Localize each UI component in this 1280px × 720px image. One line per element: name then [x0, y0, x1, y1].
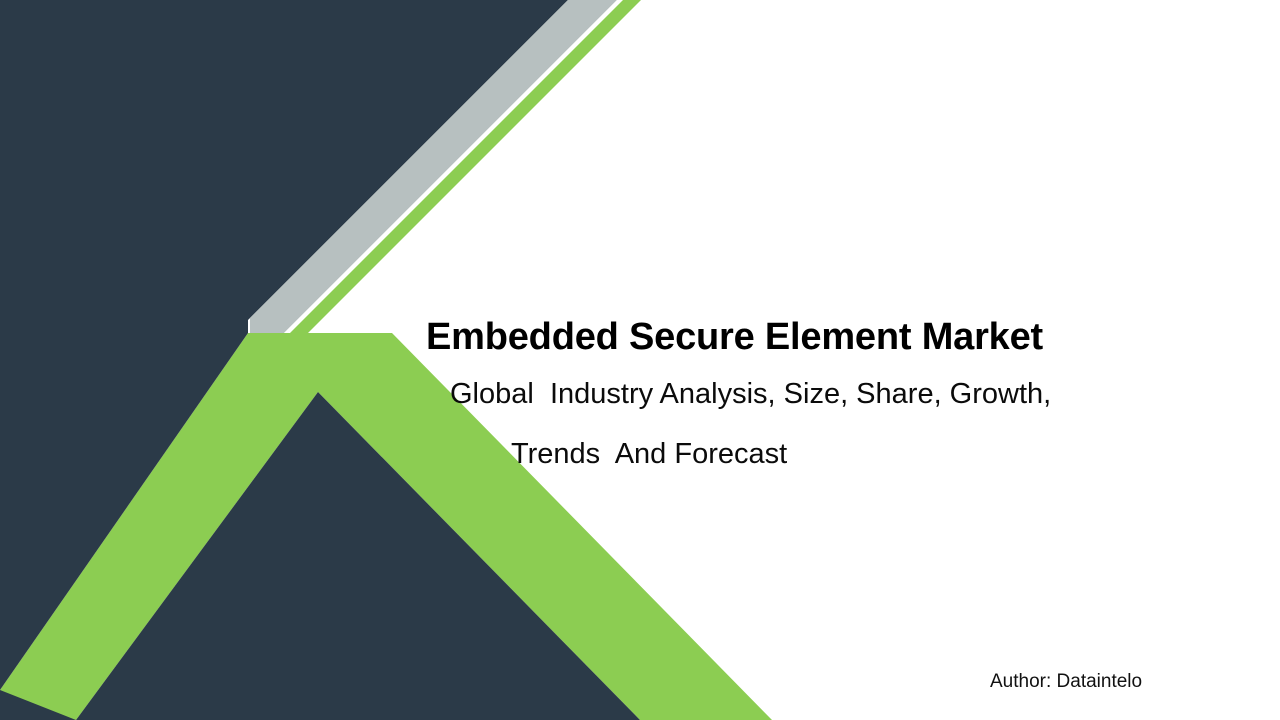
author-credit: Author: Dataintelo	[990, 671, 1142, 693]
slide-subtitle-line-1: Global Industry Analysis, Size, Share, G…	[450, 377, 1210, 412]
title-slide: Embedded Secure Element Market Global In…	[0, 0, 1280, 720]
slide-title: Embedded Secure Element Market	[426, 316, 1226, 360]
slide-text-layer: Embedded Secure Element Market Global In…	[0, 0, 1280, 720]
slide-subtitle-line-2: Trends And Forecast	[511, 437, 1211, 472]
